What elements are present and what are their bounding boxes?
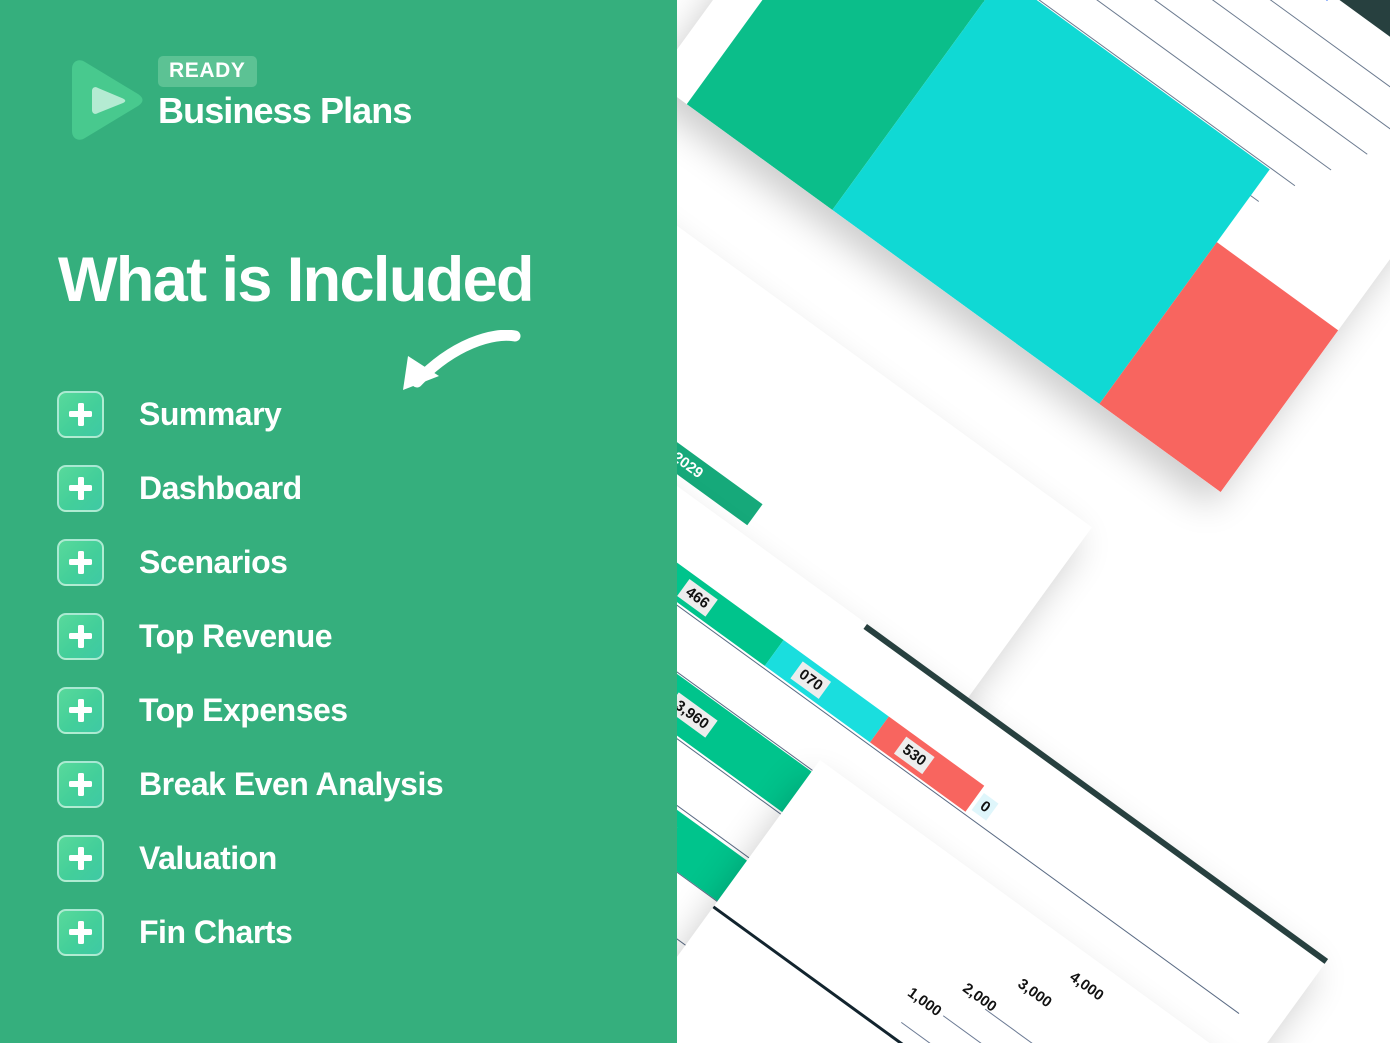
plus-icon[interactable] (57, 909, 104, 956)
promo-slide: ...ness Name Table of Contents 128.9 202… (0, 0, 1390, 1043)
bar-segment (765, 640, 889, 742)
plus-icon[interactable] (57, 835, 104, 882)
plus-icon[interactable] (57, 687, 104, 734)
plus-icon[interactable] (57, 391, 104, 438)
brand-text: READY Business Plans (158, 56, 412, 130)
feature-label: Fin Charts (139, 914, 292, 951)
left-content-panel: READY Business Plans What is Included Su… (0, 0, 677, 1043)
feature-item-scenarios[interactable]: Scenarios (57, 536, 657, 588)
feature-label: Break Even Analysis (139, 766, 443, 803)
plus-icon[interactable] (57, 539, 104, 586)
ready-badge: READY (158, 56, 257, 87)
feature-label: Top Expenses (139, 692, 348, 729)
plus-icon[interactable] (57, 761, 104, 808)
brand-name: Business Plans (158, 91, 412, 131)
feature-item-summary[interactable]: Summary (57, 388, 657, 440)
feature-label: Dashboard (139, 470, 302, 507)
feature-label: Summary (139, 396, 281, 433)
plus-icon[interactable] (57, 613, 104, 660)
feature-item-break-even-analysis[interactable]: Break Even Analysis (57, 758, 657, 810)
feature-item-top-expenses[interactable]: Top Expenses (57, 684, 657, 736)
page-title: What is Included (58, 247, 658, 313)
included-features-list: Summary Dashboard Scenarios Top Revenue … (57, 388, 657, 980)
feature-label: Valuation (139, 840, 277, 877)
feature-item-fin-charts[interactable]: Fin Charts (57, 906, 657, 958)
spreadsheet-collage: ...ness Name Table of Contents 128.9 202… (660, 0, 1390, 1043)
plus-icon[interactable] (57, 465, 104, 512)
feature-label: Scenarios (139, 544, 287, 581)
brand-logo-block: READY Business Plans (62, 56, 482, 148)
feature-item-valuation[interactable]: Valuation (57, 832, 657, 884)
play-triangle-logo-icon (62, 58, 144, 142)
bar-segment (660, 552, 784, 666)
feature-label: Top Revenue (139, 618, 332, 655)
feature-item-dashboard[interactable]: Dashboard (57, 462, 657, 514)
feature-item-top-revenue[interactable]: Top Revenue (57, 610, 657, 662)
